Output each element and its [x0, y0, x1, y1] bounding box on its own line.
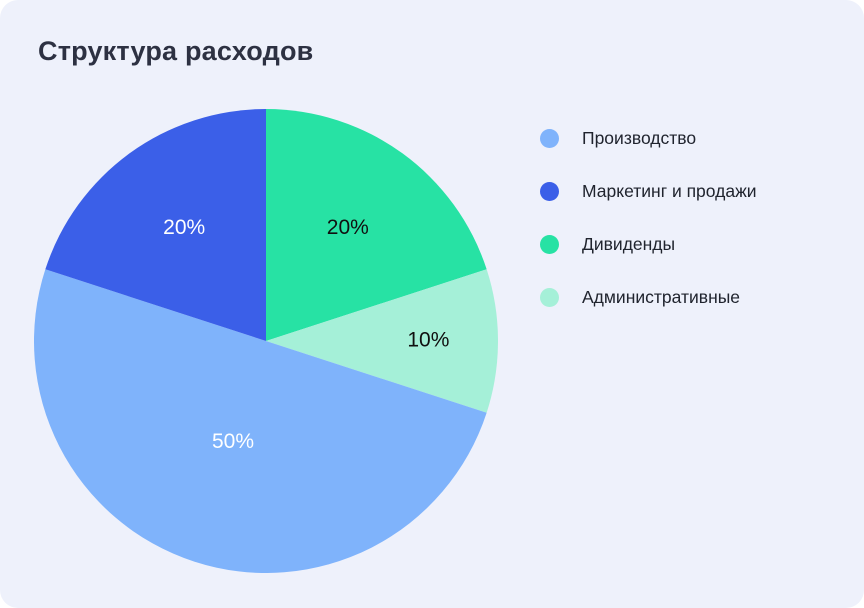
legend-color-swatch-icon: [540, 288, 559, 307]
legend-color-swatch-icon: [540, 235, 559, 254]
legend-item[interactable]: Дивиденды: [540, 218, 840, 271]
legend-item[interactable]: Административные: [540, 271, 840, 324]
legend-item-label: Административные: [582, 287, 740, 308]
pie-slice-label: 20%: [327, 216, 369, 239]
legend-item-label: Производство: [582, 128, 696, 149]
pie-slice-label: 50%: [212, 430, 254, 453]
pie-slice-label: 20%: [163, 216, 205, 239]
legend-color-swatch-icon: [540, 129, 559, 148]
page-title: Структура расходов: [38, 36, 313, 67]
legend-item[interactable]: Производство: [540, 112, 840, 165]
chart-legend: ПроизводствоМаркетинг и продажиДивиденды…: [540, 112, 840, 324]
pie-chart-svg: 20%10%50%20%: [34, 109, 498, 573]
legend-color-swatch-icon: [540, 182, 559, 201]
legend-item-label: Дивиденды: [582, 234, 675, 255]
chart-canvas: Структура расходов 20%10%50%20% Производ…: [0, 0, 864, 608]
pie-slice-label: 10%: [407, 329, 449, 352]
legend-item-label: Маркетинг и продажи: [582, 181, 757, 202]
pie-chart: 20%10%50%20%: [34, 109, 498, 573]
legend-item[interactable]: Маркетинг и продажи: [540, 165, 840, 218]
